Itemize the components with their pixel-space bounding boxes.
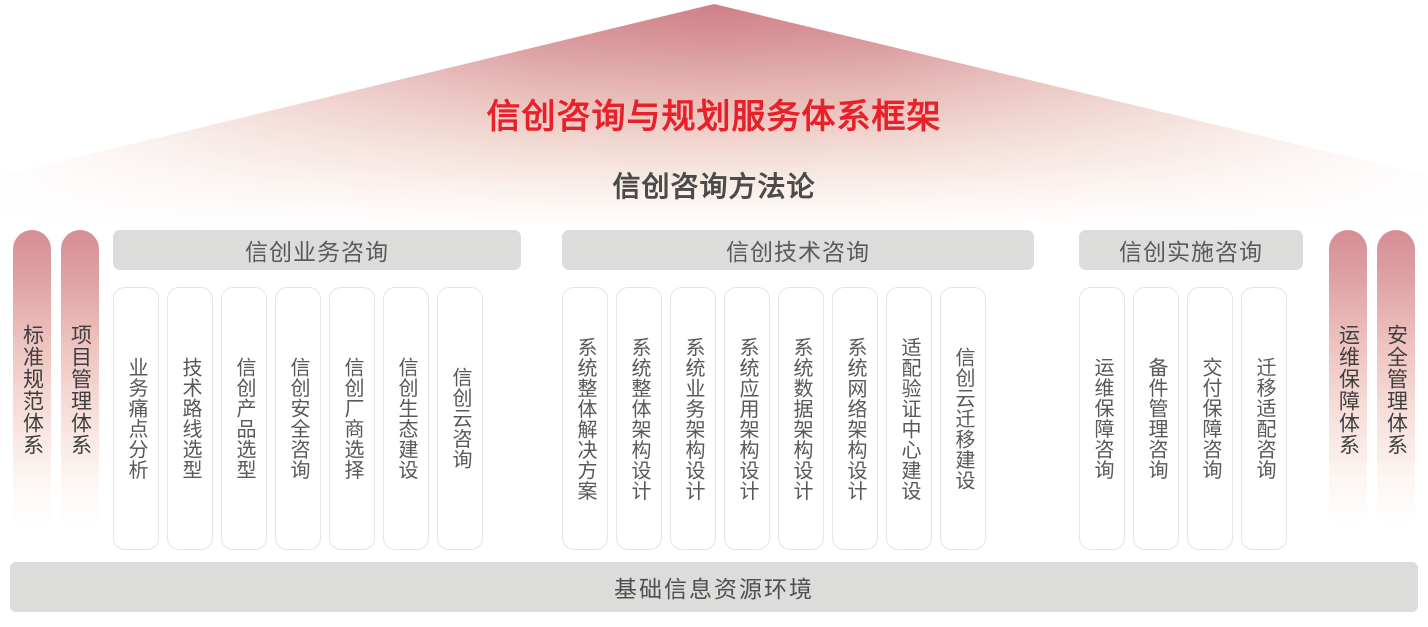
group-header[interactable]: 信创业务咨询 [113,230,521,270]
item-label: 业务痛点分析 [124,357,148,480]
item-card[interactable]: 信创厂商选择 [329,287,375,550]
item-label: 信创产品选型 [232,357,256,480]
item-card[interactable]: 运维保障咨询 [1079,287,1125,550]
item-card[interactable]: 信创安全咨询 [275,287,321,550]
item-label: 系统应用架构设计 [735,337,759,501]
item-card[interactable]: 信创云咨询 [437,287,483,550]
pillar-label: 项目管理体系 [68,324,93,456]
group-technical-consulting: 信创技术咨询 系统整体解决方案 系统整体架构设计 系统业务架构设计 系统应用架构… [562,230,1034,270]
group-business-consulting: 信创业务咨询 业务痛点分析 技术路线选型 信创产品选型 信创安全咨询 信创厂商选… [113,230,521,270]
item-card[interactable]: 技术路线选型 [167,287,213,550]
group-item-list: 业务痛点分析 技术路线选型 信创产品选型 信创安全咨询 信创厂商选择 信创生态建… [113,287,483,550]
pillar-label: 标准规范体系 [20,324,45,456]
foundation-bar[interactable]: 基础信息资源环境 [10,562,1418,612]
item-label: 迁移适配咨询 [1252,357,1276,480]
item-label: 运维保障咨询 [1090,357,1114,480]
item-label: 信创云迁移建设 [951,347,975,491]
pillar-security-management-system[interactable]: 安全管理体系 [1377,230,1415,550]
item-card[interactable]: 系统整体架构设计 [616,287,662,550]
group-item-list: 系统整体解决方案 系统整体架构设计 系统业务架构设计 系统应用架构设计 系统数据… [562,287,986,550]
item-card[interactable]: 系统数据架构设计 [778,287,824,550]
group-implementation-consulting: 信创实施咨询 运维保障咨询 备件管理咨询 交付保障咨询 迁移适配咨询 [1079,230,1303,270]
item-card[interactable]: 备件管理咨询 [1133,287,1179,550]
item-card[interactable]: 系统业务架构设计 [670,287,716,550]
item-card[interactable]: 交付保障咨询 [1187,287,1233,550]
item-label: 系统整体架构设计 [627,337,651,501]
pillar-project-management-system[interactable]: 项目管理体系 [61,230,99,550]
item-label: 适配验证中心建设 [897,337,921,501]
item-card[interactable]: 系统网络架构设计 [832,287,878,550]
item-label: 信创云咨询 [448,367,472,470]
item-label: 交付保障咨询 [1198,357,1222,480]
item-label: 备件管理咨询 [1144,357,1168,480]
pillar-ops-assurance-system[interactable]: 运维保障体系 [1329,230,1367,550]
item-card[interactable]: 适配验证中心建设 [886,287,932,550]
item-card[interactable]: 系统整体解决方案 [562,287,608,550]
item-label: 信创厂商选择 [340,357,364,480]
item-label: 系统整体解决方案 [573,337,597,501]
item-card[interactable]: 信创云迁移建设 [940,287,986,550]
group-header[interactable]: 信创技术咨询 [562,230,1034,270]
group-header[interactable]: 信创实施咨询 [1079,230,1303,270]
item-card[interactable]: 信创产品选型 [221,287,267,550]
item-card[interactable]: 迁移适配咨询 [1241,287,1287,550]
pillar-standard-spec-system[interactable]: 标准规范体系 [13,230,51,550]
pillar-label: 安全管理体系 [1384,324,1409,456]
item-label: 系统业务架构设计 [681,337,705,501]
item-label: 信创生态建设 [394,357,418,480]
item-label: 技术路线选型 [178,357,202,480]
page-title: 信创咨询与规划服务体系框架 [0,95,1428,139]
item-card[interactable]: 业务痛点分析 [113,287,159,550]
item-label: 系统数据架构设计 [789,337,813,501]
pillar-label: 运维保障体系 [1336,324,1361,456]
item-label: 信创安全咨询 [286,357,310,480]
item-label: 系统网络架构设计 [843,337,867,501]
item-card[interactable]: 系统应用架构设计 [724,287,770,550]
item-card[interactable]: 信创生态建设 [383,287,429,550]
group-item-list: 运维保障咨询 备件管理咨询 交付保障咨询 迁移适配咨询 [1079,287,1287,550]
diagram-canvas: 信创咨询与规划服务体系框架 信创咨询方法论 标准规范体系 项目管理体系 运维保障… [0,0,1428,627]
page-subtitle: 信创咨询方法论 [0,168,1428,206]
